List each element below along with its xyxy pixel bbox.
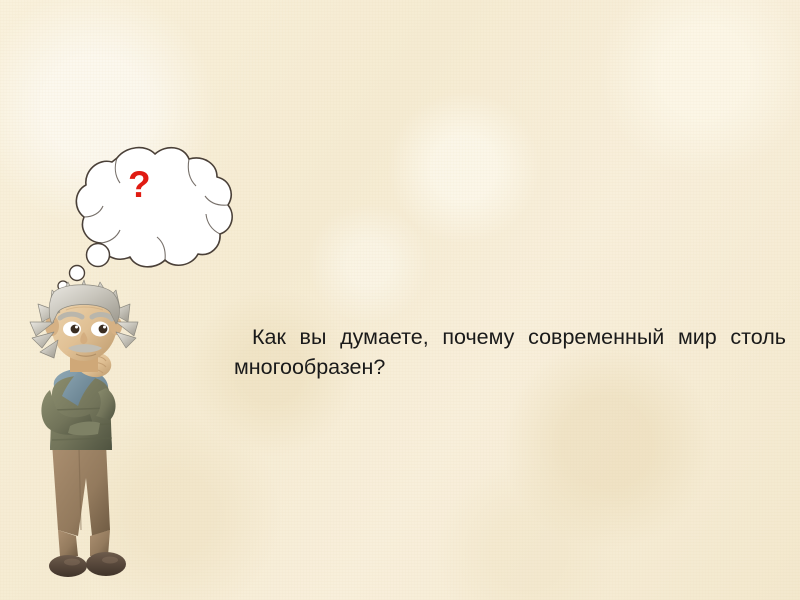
right-eye-glint — [103, 326, 106, 329]
question-mark-symbol: ? — [128, 166, 151, 203]
left-shoe — [49, 555, 87, 577]
slide-question-text: Как вы думаете, почему современный мир с… — [234, 322, 786, 412]
left-eye-glint — [75, 326, 78, 329]
thinking-scientist-figure — [18, 278, 142, 590]
right-shoe-highlight — [102, 557, 118, 564]
right-shoe — [86, 552, 126, 576]
tail-bubble-large — [87, 244, 110, 267]
slide-canvas: ? — [0, 0, 800, 600]
left-pupil — [71, 325, 80, 334]
left-shoe-highlight — [64, 559, 80, 566]
right-pupil — [99, 325, 108, 334]
legs — [52, 443, 110, 556]
